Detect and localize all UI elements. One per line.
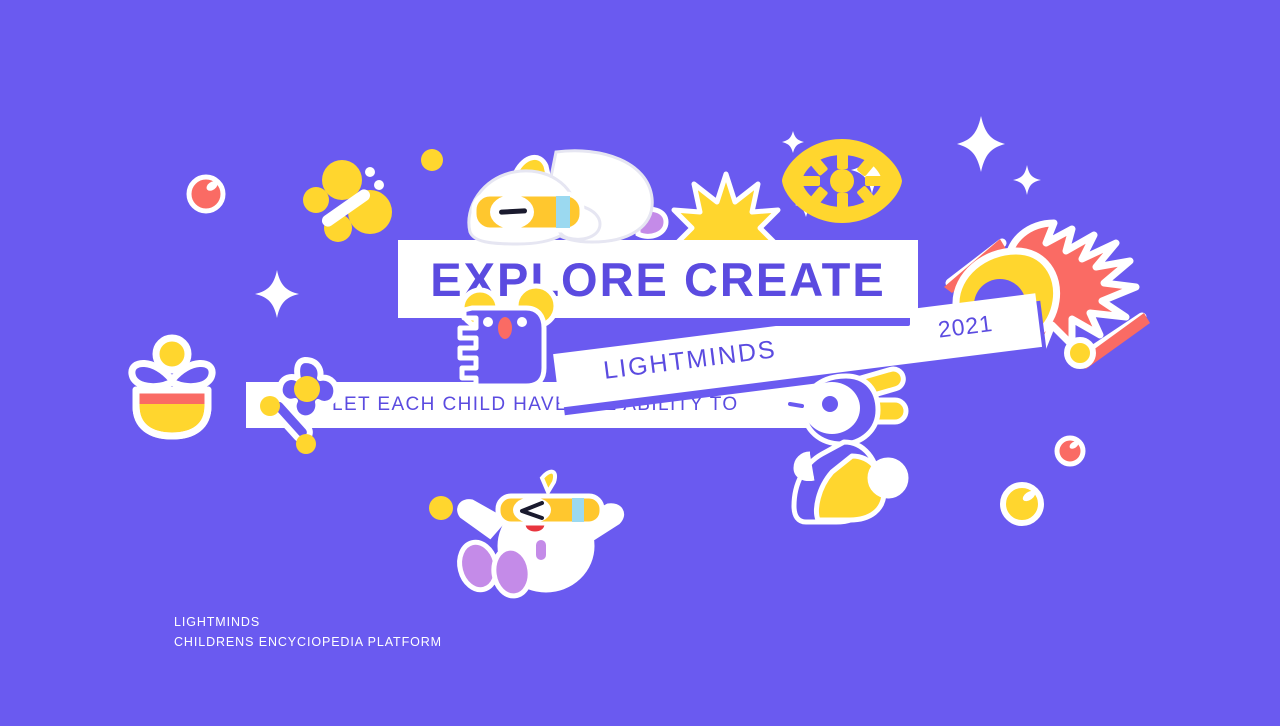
cheering-cat-mascot	[450, 462, 640, 594]
purple-bunny-icon	[788, 368, 916, 532]
mascot2-visor-stripe	[572, 498, 584, 522]
mascot2-mouth	[524, 524, 546, 533]
creature-eye-left	[483, 317, 493, 327]
coral-ball-top-left	[189, 177, 223, 211]
footer-line-1: LIGHTMINDS	[174, 612, 442, 632]
brand-label: LIGHTMINDS	[602, 335, 778, 386]
coral-ball-right	[1057, 438, 1083, 464]
bunny-whisker	[790, 404, 802, 406]
bunny-tail	[870, 460, 906, 496]
mascot2-eye-lens	[513, 497, 551, 523]
footer-credits: LIGHTMINDS CHILDRENS ENCYCIOPEDIA PLATFO…	[174, 612, 442, 652]
flower-wand-icon	[256, 352, 356, 462]
flower-pot-icon	[120, 330, 232, 442]
footer-line-2: CHILDRENS ENCYCIOPEDIA PLATFORM	[174, 632, 442, 652]
mascot2-chest-mark	[536, 540, 546, 560]
mascot2-ear	[542, 472, 555, 492]
bunny-paw	[796, 454, 814, 479]
purple-mouse-creature	[452, 288, 574, 400]
creature-nose	[498, 317, 512, 339]
yellow-ball-top	[421, 149, 443, 171]
poster-canvas: EXPLORE CREATE LET EACH CHILD HAVE THE A…	[0, 0, 1280, 726]
bunny-eye	[822, 396, 838, 412]
sleeping-cat-mascot	[452, 146, 682, 262]
mascot-visor-stripe	[556, 196, 570, 228]
yellow-ball-bottom-right	[1003, 485, 1041, 523]
year-label: 2021	[936, 310, 994, 344]
creature-eye-right	[517, 317, 527, 327]
